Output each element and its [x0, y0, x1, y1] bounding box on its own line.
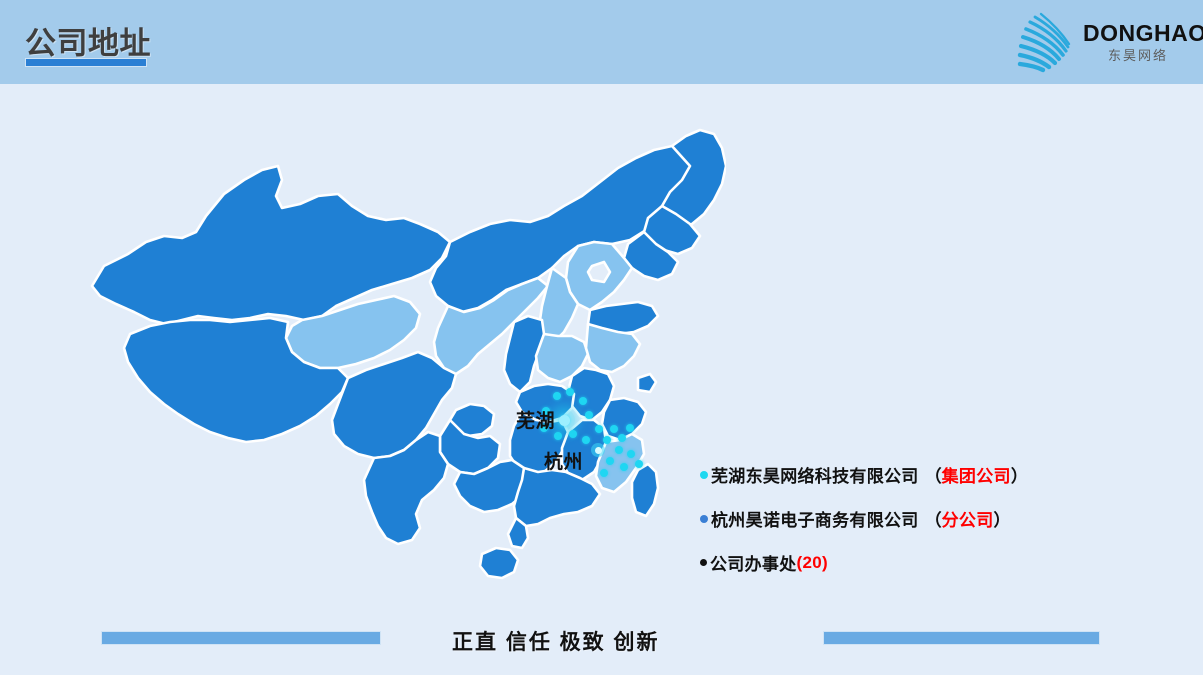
- legend-offices-label: 公司办事处: [710, 550, 797, 575]
- office-marker: [569, 430, 577, 438]
- city-label-hangzhou: 杭州: [544, 447, 583, 474]
- footer-bar-right: [823, 631, 1100, 645]
- legend-item-group-company: 芜湖东昊网络科技有限公司 （ 集团公司 ）: [700, 462, 1180, 487]
- office-marker: [553, 392, 561, 400]
- page-title: 公司地址: [25, 18, 151, 63]
- city-label-wuhu: 芜湖: [516, 406, 555, 433]
- office-marker: [618, 434, 626, 442]
- footer-bar-left: [101, 631, 381, 645]
- map-legend: 芜湖东昊网络科技有限公司 （ 集团公司 ） 杭州昊诺电子商务有限公司 （ 分公司…: [700, 462, 1180, 594]
- office-marker: [606, 457, 614, 465]
- legend-paren-close: ）: [1011, 462, 1028, 487]
- legend-bullet-black-icon: [700, 559, 707, 566]
- china-map: 芜湖 杭州: [86, 120, 726, 610]
- legend-offices-count: (20): [797, 553, 828, 573]
- footer-slogan: 正直 信任 极致 创新: [452, 626, 752, 656]
- office-marker: [615, 446, 623, 454]
- china-map-svg: [86, 120, 726, 610]
- province-shanghai: [638, 374, 656, 392]
- legend-company-name: 芜湖东昊网络科技有限公司: [711, 462, 919, 487]
- office-marker: [610, 425, 618, 433]
- title-underline: [25, 58, 147, 67]
- logo-name: DONGHAO: [1083, 22, 1193, 45]
- office-marker: [566, 388, 574, 396]
- office-marker: [603, 436, 611, 444]
- office-marker: [554, 432, 562, 440]
- legend-paren-open: （: [925, 506, 942, 531]
- branch-marker[interactable]: [591, 443, 605, 457]
- office-marker: [635, 460, 643, 468]
- legend-bullet-blue-icon: [700, 515, 708, 523]
- headquarters-marker[interactable]: [553, 409, 575, 431]
- legend-company-tag: 集团公司: [942, 462, 1011, 487]
- legend-item-offices: 公司办事处 (20): [700, 550, 1180, 575]
- province-taiwan: [632, 464, 658, 516]
- page-header: 公司地址 DONGHAO 东昊网络: [0, 0, 1203, 84]
- legend-item-branch-company: 杭州昊诺电子商务有限公司 （ 分公司 ）: [700, 506, 1180, 531]
- legend-company-name: 杭州昊诺电子商务有限公司: [711, 506, 919, 531]
- donghao-wing-icon: [1011, 8, 1081, 79]
- logo-text-block: DONGHAO 东昊网络: [1083, 22, 1193, 62]
- office-marker: [600, 469, 608, 477]
- legend-company-tag: 分公司: [942, 506, 994, 531]
- legend-paren-open: （: [925, 462, 942, 487]
- province-hainan: [480, 548, 518, 578]
- office-marker: [626, 424, 634, 432]
- office-marker: [620, 463, 628, 471]
- office-marker: [595, 425, 603, 433]
- office-marker: [582, 436, 590, 444]
- logo-subtitle: 东昊网络: [1083, 49, 1193, 62]
- province-beijing: [588, 262, 610, 282]
- brand-logo: DONGHAO 东昊网络: [1011, 6, 1191, 78]
- office-marker: [579, 397, 587, 405]
- legend-bullet-cyan-icon: [700, 471, 708, 479]
- legend-paren-close: ）: [994, 506, 1011, 531]
- office-marker: [627, 450, 635, 458]
- office-marker: [585, 411, 593, 419]
